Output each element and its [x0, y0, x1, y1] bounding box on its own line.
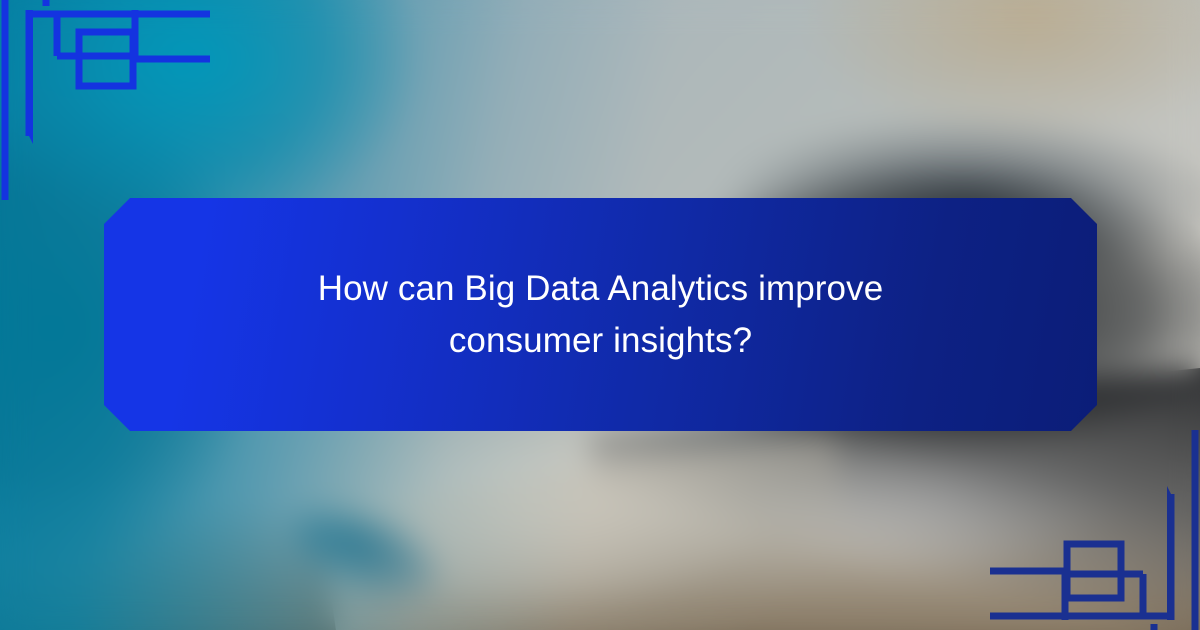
- headline-banner: How can Big Data Analytics improve consu…: [104, 198, 1097, 431]
- corner-bracket-top-left-icon: [0, 0, 210, 200]
- corner-bracket-bottom-right-icon: [990, 430, 1200, 630]
- social-share-card: How can Big Data Analytics improve consu…: [0, 0, 1200, 630]
- page-title: How can Big Data Analytics improve consu…: [271, 263, 931, 367]
